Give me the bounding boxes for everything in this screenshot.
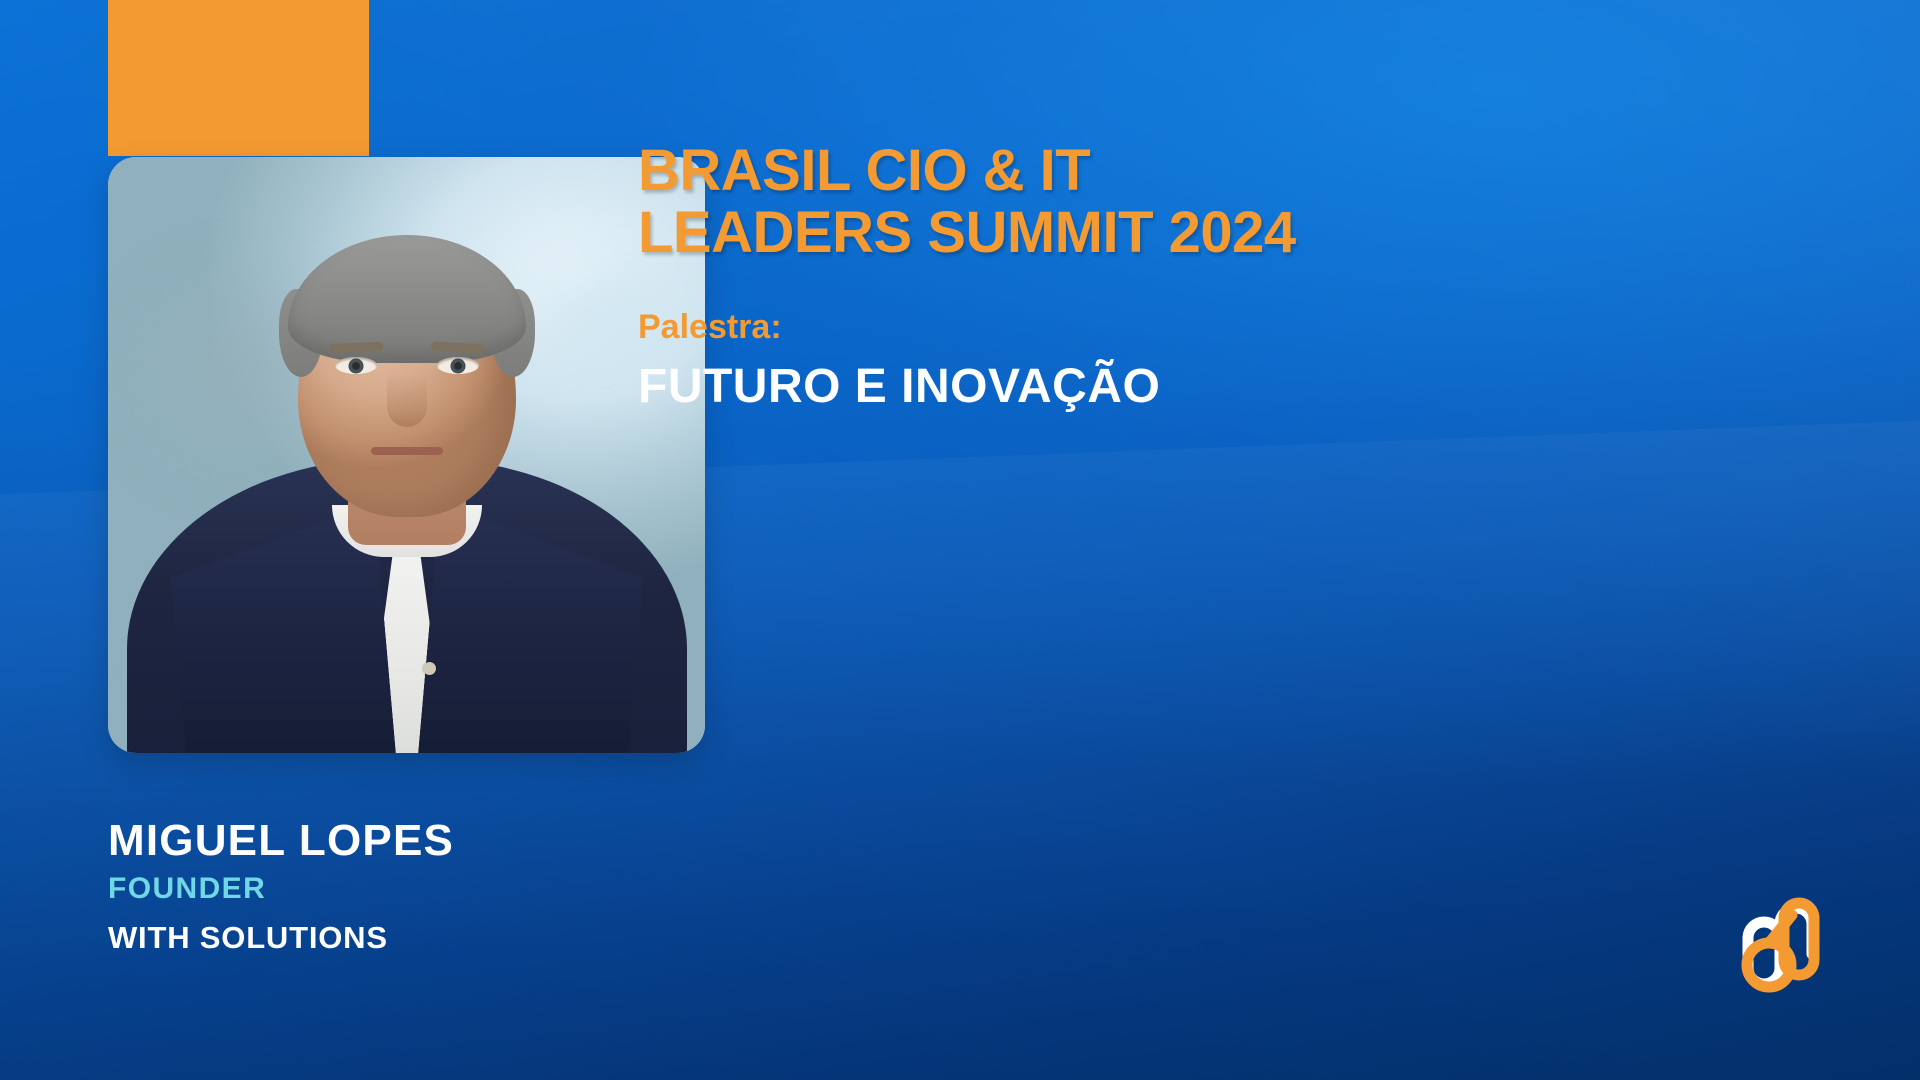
event-content: BRASIL CIO & IT LEADERS SUMMIT 2024 Pale…	[638, 140, 1818, 414]
presentation-slide: BRASIL CIO & IT LEADERS SUMMIT 2024 Pale…	[0, 0, 1920, 1080]
portrait-suit-button	[423, 662, 436, 675]
event-title-line-2: LEADERS SUMMIT 2024	[638, 202, 1818, 264]
portrait-eye-left	[335, 357, 377, 374]
speaker-company: WITH SOLUTIONS	[108, 920, 728, 956]
logo-mark-icon	[1714, 882, 1854, 1002]
event-title-line-1: BRASIL CIO & IT	[638, 140, 1818, 202]
portrait-mouth	[371, 447, 443, 455]
portrait-iris-left	[348, 358, 363, 373]
speaker-info: MIGUEL LOPES FOUNDER WITH SOLUTIONS	[108, 818, 728, 956]
orange-accent-block	[108, 0, 369, 156]
speaker-name: MIGUEL LOPES	[108, 818, 728, 864]
portrait-nose	[387, 371, 427, 427]
portrait-iris-right	[450, 358, 465, 373]
talk-label: Palestra:	[638, 308, 1818, 347]
with-solutions-logo	[1714, 882, 1854, 1002]
portrait-eye-right	[437, 357, 479, 374]
event-title: BRASIL CIO & IT LEADERS SUMMIT 2024	[638, 140, 1818, 264]
speaker-photo	[108, 157, 705, 753]
speaker-role: FOUNDER	[108, 872, 728, 906]
talk-title: FUTURO E INOVAÇÃO	[638, 359, 1818, 414]
